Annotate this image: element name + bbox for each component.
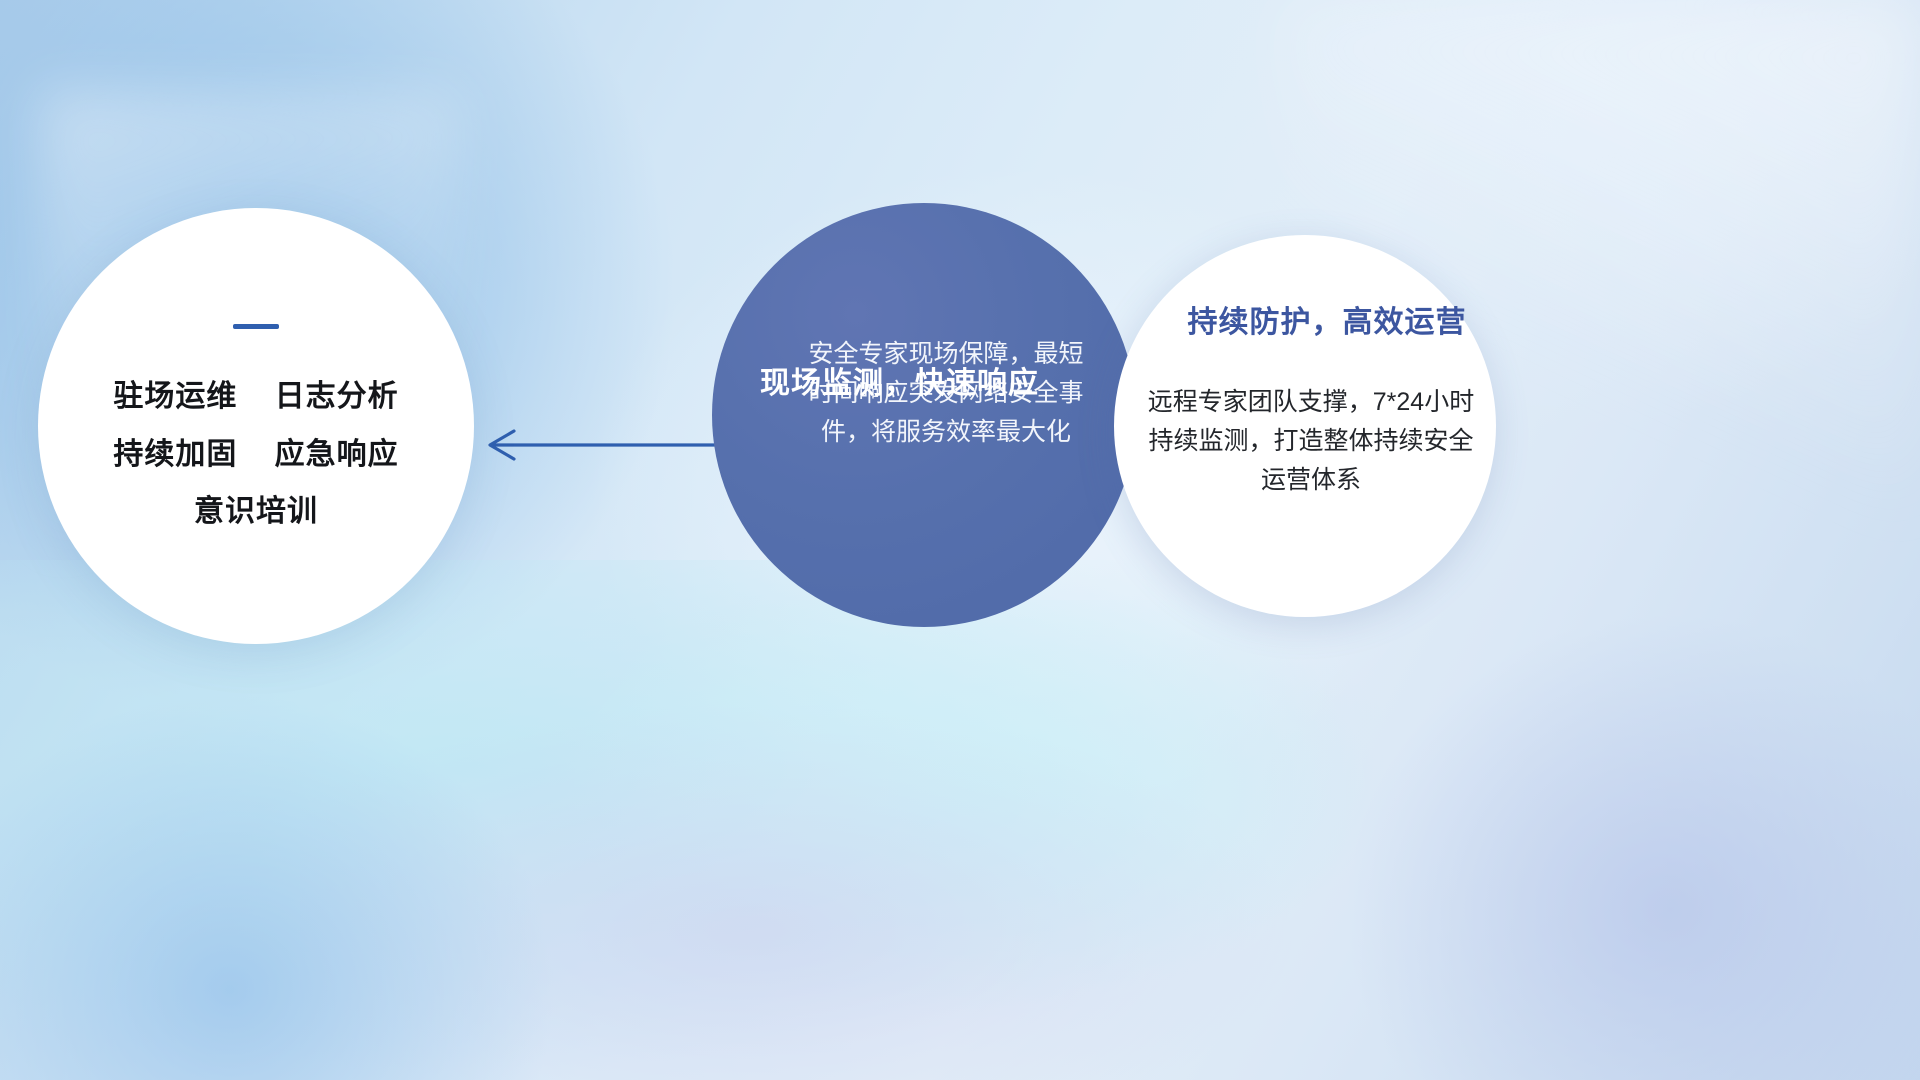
continuous-card-body: 远程专家团队支撑，7*24小时持续监测，打造整体持续安全运营体系 (1146, 383, 1476, 499)
continuous-card-title: 持续防护，高效运营 (1188, 297, 1467, 341)
capability-line-2: 持续加固 应急响应 (113, 439, 398, 471)
onsite-card-body: 安全专家现场保障，最短时间响应突发网络安全事件，将服务效率最大化 (808, 335, 1084, 451)
capability-line-1: 驻场运维 日志分析 (113, 381, 398, 413)
capability-list: 驻场运维 日志分析 持续加固 应急响应 意识培训 (113, 381, 398, 528)
capability-card-left[interactable]: 驻场运维 日志分析 持续加固 应急响应 意识培训 (38, 208, 474, 644)
slide-canvas: 驻场运维 日志分析 持续加固 应急响应 意识培训 安全专家现场保障，最短时间响应… (0, 0, 1920, 1080)
capability-line-3: 意识培训 (194, 496, 318, 528)
title-divider-dash (233, 324, 279, 329)
service-card-onsite[interactable]: 安全专家现场保障，最短时间响应突发网络安全事件，将服务效率最大化 (712, 203, 1136, 627)
service-card-continuous[interactable]: 持续防护，高效运营 远程专家团队支撑，7*24小时持续监测，打造整体持续安全运营… (1114, 235, 1496, 617)
